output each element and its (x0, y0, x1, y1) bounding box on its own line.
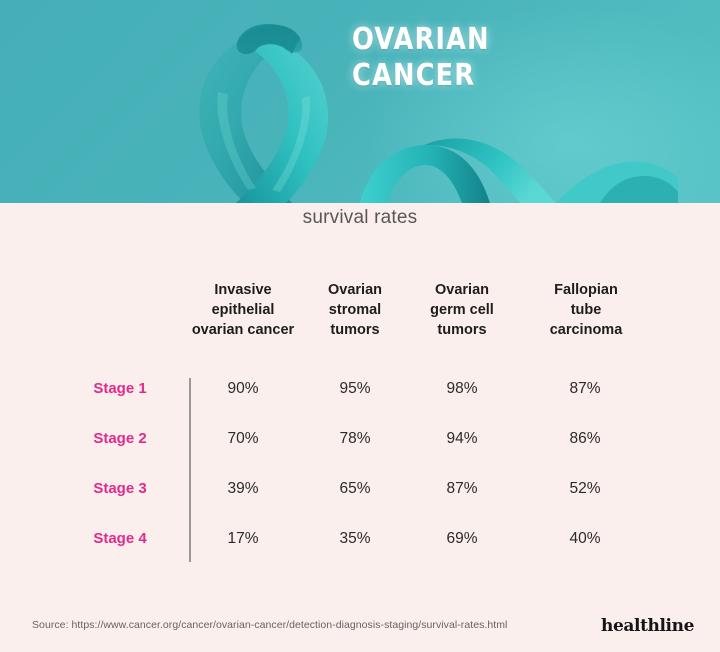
table-column-headers: Invasive epithelial ovarian cancer Ovari… (0, 280, 720, 364)
table-row: Stage 2 70% 78% 94% 86% (0, 414, 720, 464)
footer: Source: https://www.cancer.org/cancer/ov… (0, 616, 720, 638)
column-header-line: ovarian cancer (176, 320, 310, 340)
column-header-fallopian-tube-carcinoma: Fallopian tube carcinoma (526, 280, 646, 340)
infographic-root: OVARIAN CANCER survival rates Invasive e… (0, 0, 720, 652)
stage-label: Stage 4 (66, 514, 174, 564)
table-cell: 86% (535, 414, 635, 464)
table-cell: 98% (412, 364, 512, 414)
column-header-line: tumors (298, 320, 412, 340)
table-cell: 94% (412, 414, 512, 464)
column-header-line: epithelial (176, 300, 310, 320)
column-header-ovarian-stromal-tumors: Ovarian stromal tumors (298, 280, 412, 340)
stage-label: Stage 1 (66, 364, 174, 414)
column-header-line: tube (526, 300, 646, 320)
healthline-logo: healthline (601, 616, 694, 636)
survival-rates-table: Invasive epithelial ovarian cancer Ovari… (0, 280, 720, 564)
column-header-ovarian-germ-cell-tumors: Ovarian germ cell tumors (402, 280, 522, 340)
table-cell: 95% (305, 364, 405, 414)
column-header-line: carcinoma (526, 320, 646, 340)
table-rows: Stage 1 90% 95% 98% 87% Stage 2 70% 78% … (0, 364, 720, 564)
hero-banner: OVARIAN CANCER (0, 0, 720, 203)
column-header-line: tumors (402, 320, 522, 340)
table-cell: 52% (535, 464, 635, 514)
table-row: Stage 3 39% 65% 87% 52% (0, 464, 720, 514)
table-cell: 87% (412, 464, 512, 514)
stage-label: Stage 2 (66, 414, 174, 464)
subtitle: survival rates (0, 207, 720, 229)
column-header-line: Ovarian (402, 280, 522, 300)
column-header-invasive-epithelial-ovarian-cancer: Invasive epithelial ovarian cancer (176, 280, 310, 340)
table-cell: 17% (193, 514, 293, 564)
table-row: Stage 1 90% 95% 98% 87% (0, 364, 720, 414)
title-line-2: CANCER (352, 58, 567, 94)
table-cell: 65% (305, 464, 405, 514)
title-line-1: OVARIAN (352, 22, 490, 57)
column-header-line: Ovarian (298, 280, 412, 300)
stage-label: Stage 3 (66, 464, 174, 514)
table-cell: 87% (535, 364, 635, 414)
table-row: Stage 4 17% 35% 69% 40% (0, 514, 720, 564)
column-header-line: germ cell (402, 300, 522, 320)
table-cell: 78% (305, 414, 405, 464)
page-title: OVARIAN CANCER (352, 22, 567, 94)
source-citation: Source: https://www.cancer.org/cancer/ov… (32, 619, 507, 631)
table-cell: 40% (535, 514, 635, 564)
table-cell: 70% (193, 414, 293, 464)
column-header-line: Invasive (176, 280, 310, 300)
table-cell: 39% (193, 464, 293, 514)
table-cell: 69% (412, 514, 512, 564)
column-header-line: Fallopian (526, 280, 646, 300)
column-header-line: stromal (298, 300, 412, 320)
table-cell: 35% (305, 514, 405, 564)
table-cell: 90% (193, 364, 293, 414)
